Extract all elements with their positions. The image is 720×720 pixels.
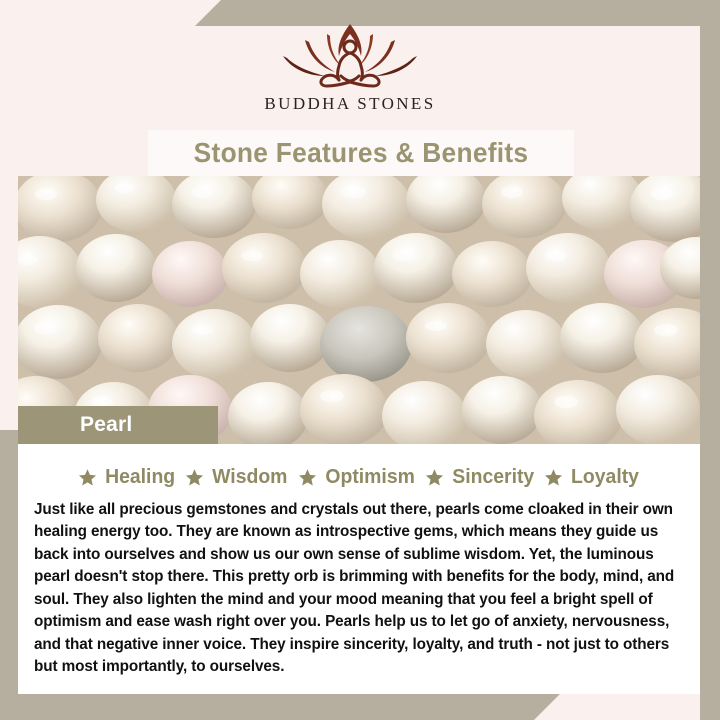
benefit-label: Healing — [105, 466, 175, 489]
benefit-label: Sincerity — [452, 466, 534, 489]
star-icon — [78, 468, 97, 487]
pearls-photo-art — [18, 176, 700, 444]
stone-name-badge: Pearl — [18, 406, 218, 444]
title-banner: Stone Features & Benefits — [148, 130, 574, 176]
frame-band-bottom — [0, 694, 560, 720]
star-icon — [425, 468, 444, 487]
lotus-meditation-icon — [275, 18, 425, 90]
benefit-item-healing: Healing — [78, 466, 176, 489]
star-icon — [544, 468, 563, 487]
benefit-label: Optimism — [325, 466, 414, 489]
content-card: Healing Wisdom Optimism Sincerity Loyalt — [18, 444, 700, 694]
benefits-row: Healing Wisdom Optimism Sincerity Loyalt — [34, 466, 684, 489]
brand-logo: BUDDHA STONES — [0, 18, 700, 128]
star-icon — [298, 468, 317, 487]
benefit-label: Wisdom — [212, 466, 287, 489]
description-paragraph: Just like all precious gemstones and cry… — [34, 499, 684, 679]
benefit-label: Loyalty — [571, 466, 639, 489]
pearls-photo — [18, 176, 700, 444]
frame-band-right — [700, 0, 720, 720]
benefit-item-loyalty: Loyalty — [544, 466, 640, 489]
stone-name-text: Pearl — [80, 413, 132, 437]
star-icon — [185, 468, 204, 487]
benefit-item-sincerity: Sincerity — [425, 466, 535, 489]
brand-name: BUDDHA STONES — [264, 94, 435, 114]
page-title: Stone Features & Benefits — [194, 137, 529, 169]
frame-band-left — [0, 430, 18, 694]
benefit-item-wisdom: Wisdom — [185, 466, 289, 489]
benefit-item-optimism: Optimism — [298, 466, 416, 489]
